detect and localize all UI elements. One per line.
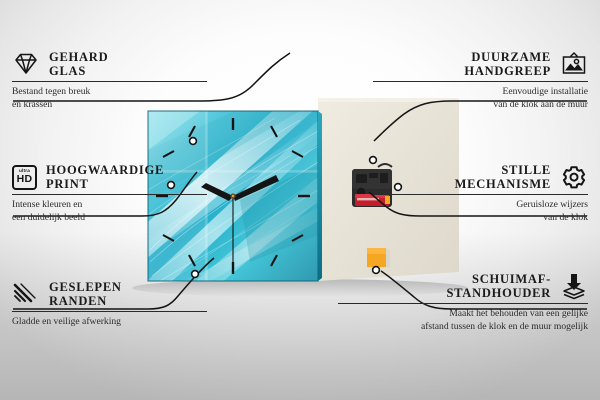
feature-desc-line: Maakt het behouden van een gelijke <box>338 308 588 321</box>
feature-divider <box>12 81 207 82</box>
infographic-canvas: GEHARD GLAS Bestand tegen breuk en krass… <box>0 0 600 400</box>
feature-title-line: MECHANISME <box>455 177 551 191</box>
feature-duurzame-handgreep: DUURZAME HANDGREEP Eenvoudige installati… <box>373 50 588 112</box>
feature-divider <box>12 194 207 195</box>
feature-title-line: HOOGWAARDIGE <box>46 163 164 177</box>
feature-title-line: HANDGREEP <box>464 64 551 78</box>
feature-desc-line: een duidelijk beeld <box>12 212 207 225</box>
feature-desc-line: Gladde en veilige afwerking <box>12 316 207 329</box>
feature-title-line: GEHARD <box>49 50 108 64</box>
feature-desc-line: afstand tussen de klok en de muur mogeli… <box>338 321 588 334</box>
feature-title-line: RANDEN <box>49 294 122 308</box>
feature-stille-mechanisme: STILLE MECHANISME Geruisloze wijzers van… <box>373 163 588 225</box>
feature-divider <box>373 194 588 195</box>
feature-title-line: STILLE <box>455 163 551 177</box>
diamond-icon <box>12 51 40 77</box>
feature-title-line: GESLEPEN <box>49 280 122 294</box>
feature-divider <box>12 311 207 312</box>
gear-icon <box>560 164 588 190</box>
beveled-edges-icon <box>12 281 40 307</box>
connector-node-1 <box>190 138 197 145</box>
feature-title-line: DUURZAME <box>464 50 551 64</box>
connector-node-3 <box>192 271 199 278</box>
feature-desc-line: en krassen <box>12 99 207 112</box>
feature-hoogwaardige-print: ultra HD HOOGWAARDIGE PRINT Intense kleu… <box>12 163 207 225</box>
ultra-hd-main-label: HD <box>17 174 33 185</box>
feature-schuimafstandhouder: SCHUIMAF- STANDHOUDER Maakt het behouden… <box>338 272 588 334</box>
feature-divider <box>373 81 588 82</box>
feature-desc-line: Geruisloze wijzers <box>373 199 588 212</box>
ultra-hd-icon: ultra HD <box>12 165 37 190</box>
feature-desc-line: Intense kleuren en <box>12 199 207 212</box>
feature-title-line: GLAS <box>49 64 108 78</box>
feature-title-line: SCHUIMAF- <box>446 272 551 286</box>
feature-desc-line: Bestand tegen breuk <box>12 86 207 99</box>
feature-geslepen-randen: GESLEPEN RANDEN Gladde en veilige afwerk… <box>12 280 207 329</box>
feature-divider <box>338 303 588 304</box>
feature-title-line: PRINT <box>46 177 164 191</box>
feature-desc-line: van de klok <box>373 212 588 225</box>
feature-title-line: STANDHOUDER <box>446 286 551 300</box>
feature-desc-line: van de klok aan de muur <box>373 99 588 112</box>
feature-desc-line: Eenvoudige installatie <box>373 86 588 99</box>
picture-frame-icon <box>560 51 588 78</box>
press-down-icon <box>560 272 588 300</box>
feature-gehard-glas: GEHARD GLAS Bestand tegen breuk en krass… <box>12 50 207 112</box>
